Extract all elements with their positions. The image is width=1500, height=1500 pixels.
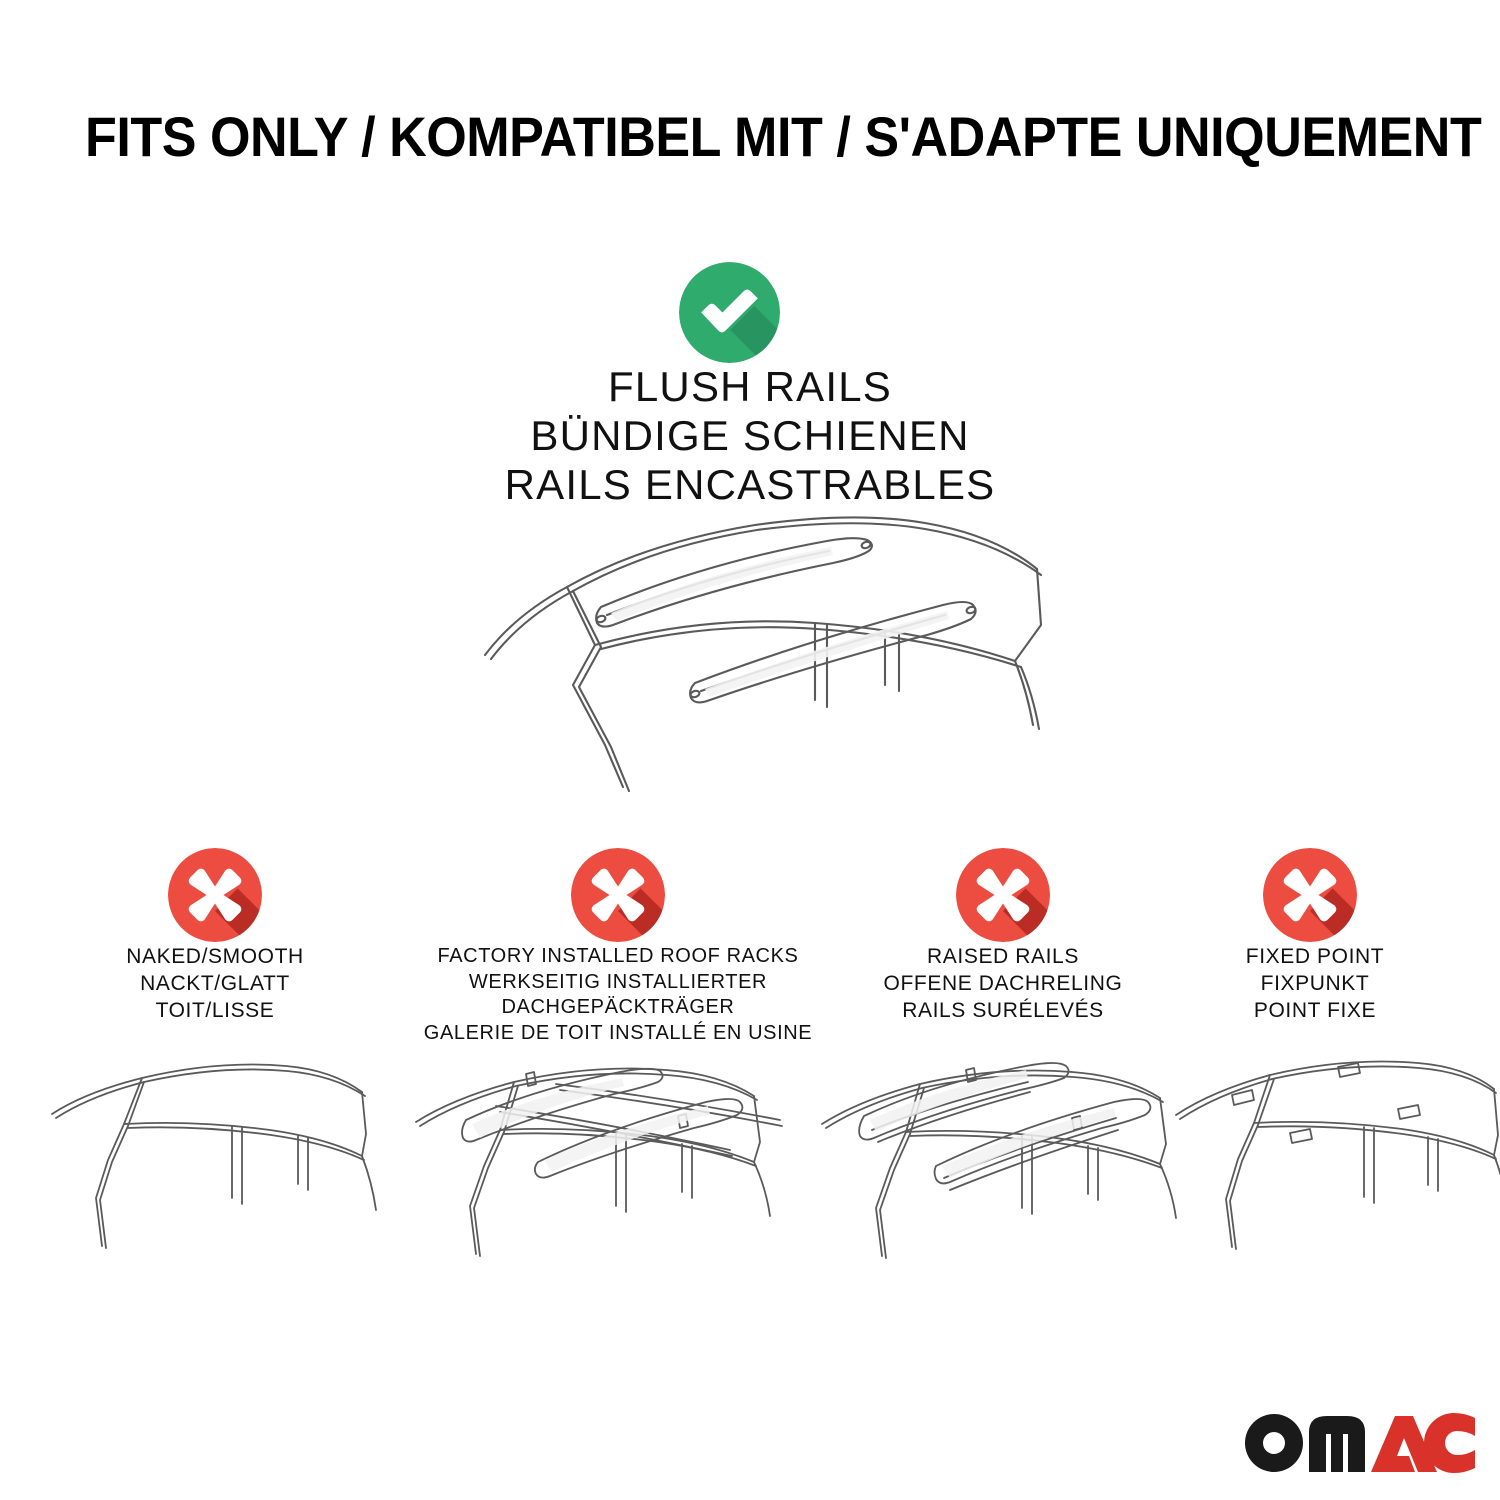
label-de: FIXPUNKT: [1170, 971, 1460, 998]
omac-logo: [1243, 1412, 1475, 1474]
label-de-2: DACHGEPÄCKTRÄGER: [400, 995, 836, 1021]
label-fr: POINT FIXE: [1170, 998, 1460, 1025]
incompatible-caption: NAKED/SMOOTH NACKT/GLATT TOIT/LISSE: [36, 944, 394, 1025]
label-de-1: WERKSEITIG INSTALLIERTER: [400, 970, 836, 996]
label-fr: GALERIE DE TOIT INSTALLÉ EN USINE: [400, 1021, 836, 1047]
label-de: NACKT/GLATT: [36, 971, 394, 998]
x-circle-icon: [1263, 848, 1357, 942]
car-roof-bare-illustration: [46, 1048, 386, 1263]
incompatible-caption: FACTORY INSTALLED ROOF RACKS WERKSEITIG …: [400, 944, 836, 1046]
x-circle-icon: [571, 848, 665, 942]
incompatible-caption: FIXED POINT FIXPUNKT POINT FIXE: [1170, 944, 1460, 1025]
label-fr: TOIT/LISSE: [36, 998, 394, 1025]
check-glyph: [679, 262, 780, 363]
label-fr: RAILS SURÉLEVÉS: [842, 998, 1164, 1025]
compatible-caption: FLUSH RAILS BÜNDIGE SCHIENEN RAILS ENCAS…: [250, 362, 1250, 509]
label-de: OFFENE DACHRELING: [842, 971, 1164, 998]
label-en: FIXED POINT: [1170, 944, 1460, 971]
page-title: FITS ONLY / KOMPATIBEL MIT / S'ADAPTE UN…: [85, 108, 1331, 167]
compatible-label-en: FLUSH RAILS: [250, 362, 1250, 411]
label-en: RAISED RAILS: [842, 944, 1164, 971]
x-glyph: [571, 848, 665, 942]
car-roof-raised-rails-illustration: [814, 1058, 1214, 1273]
infographic-page: FITS ONLY / KOMPATIBEL MIT / S'ADAPTE UN…: [0, 0, 1500, 1500]
label-en: NAKED/SMOOTH: [36, 944, 394, 971]
car-roof-factory-crossbars-illustration: [410, 1058, 810, 1273]
x-circle-icon: [956, 848, 1050, 942]
x-glyph: [1263, 848, 1357, 942]
check-circle-icon: [679, 262, 780, 363]
x-circle-icon: [168, 848, 262, 942]
x-glyph: [956, 848, 1050, 942]
car-roof-fixed-point-illustration: [1170, 1053, 1500, 1268]
label-en: FACTORY INSTALLED ROOF RACKS: [400, 944, 836, 970]
incompatible-caption: RAISED RAILS OFFENE DACHRELING RAILS SUR…: [842, 944, 1164, 1025]
car-roof-flush-rails-illustration: [455, 495, 1055, 795]
x-glyph: [168, 848, 262, 942]
compatible-label-de: BÜNDIGE SCHIENEN: [250, 411, 1250, 460]
